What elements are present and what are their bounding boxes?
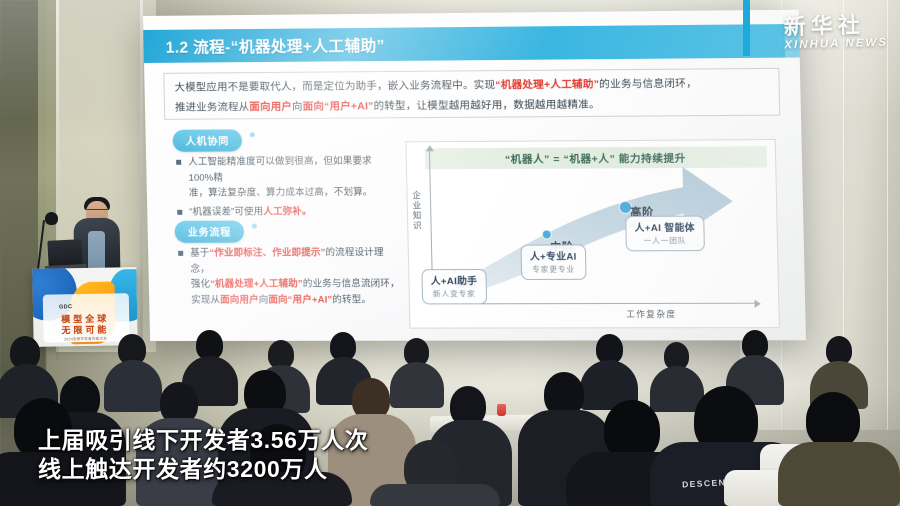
bullet-list-workflow: 基于“作业即标注、作业即提示”的流程设计理念， 强化“机器处理+人工辅助”的业务… <box>178 245 403 311</box>
audience-shoulders-foreground <box>370 484 500 506</box>
audience-shoulders-foreground <box>778 442 900 506</box>
bullet-square-icon <box>177 210 182 215</box>
pill-decor-dot <box>250 132 255 137</box>
bullet-line: 强化 <box>191 279 210 290</box>
audience-shoulders <box>104 360 162 412</box>
drink-cup <box>497 404 506 416</box>
section-pill-collaboration: 人机协同 <box>172 129 242 151</box>
bullet-highlight: 面向用户 <box>220 295 259 306</box>
bullet-text: 人工智能精准度可以做到很高，但如果要求100%精 准，算法复杂度、算力成本过高，… <box>188 153 397 201</box>
audience-head-foreground <box>806 392 860 448</box>
bullet-line: 的业务与信息流闭环， <box>303 278 400 289</box>
bullet-line: 人工智能精准度可以做到很高，但如果要求100%精 <box>188 156 372 184</box>
stage-card-subtitle: 新人变专家 <box>431 288 478 299</box>
bullet-item: “机器误差”可使用人工弥补。 <box>177 204 397 221</box>
bullet-square-icon <box>176 160 181 165</box>
slide-intro-box: 大模型应用不是要取代人，而是定位为助手，嵌入业务流程中。实现“机器处理+人工辅助… <box>163 68 780 120</box>
stage-card-intermediate: 人+专业AI 专家更专业 <box>520 244 586 280</box>
intro-highlight-4: “用户+AI” <box>324 101 374 112</box>
intro-text-b: 的业务与信息闭环， <box>599 79 697 91</box>
stage-card-subtitle: 一人一团队 <box>635 235 695 246</box>
podium-logo: GDC <box>59 304 72 310</box>
bullet-highlight: “作业即标注、作业即提示” <box>209 247 325 258</box>
subtitle-line-1: 上届吸引线下开发者3.56万人次 <box>38 426 368 455</box>
intro-line-2: 推进业务流程从面向用户向面向“用户+AI”的转型，让模型越用越好用，数据越用越精… <box>175 94 769 118</box>
bullet-highlight: “用户+AI” <box>288 294 333 305</box>
stage-card-basic: 人+AI助手 新人变专家 <box>421 269 487 304</box>
intro-text-d: 向 <box>292 101 303 112</box>
audience-head-foreground <box>604 400 660 460</box>
podium-slogan-line-2: 无限可能 <box>61 325 109 336</box>
stage-card-title: 人+专业AI <box>530 248 577 262</box>
bullet-list-collaboration: 人工智能精准度可以做到很高，但如果要求100%精 准，算法复杂度、算力成本过高，… <box>176 153 397 223</box>
bullet-square-icon <box>178 251 183 256</box>
y-axis-label: 企业知识 <box>411 191 424 231</box>
intro-highlight-2: 面向用户 <box>249 101 292 112</box>
bullet-item: 基于“作业即标注、作业即提示”的流程设计理念， 强化“机器处理+人工辅助”的业务… <box>178 245 403 308</box>
laptop <box>47 239 82 267</box>
bullet-line: 基于 <box>190 248 209 259</box>
watermark-accent-bar <box>743 0 750 56</box>
subtitle-block: 上届吸引线下开发者3.56万人次 线上触达开发者约3200万人 <box>38 426 368 484</box>
podium-subtext: 2024全球开发者先锋大会 <box>46 336 126 342</box>
audience-shoulders <box>390 362 444 408</box>
section-pill-workflow: 业务流程 <box>174 221 244 243</box>
slide-title-bar: 1.2 流程-“机器处理+人工辅助” <box>143 24 799 63</box>
watermark: 新华社 XINHUA NEWS <box>784 13 889 52</box>
stage-node-intermediate <box>543 230 551 238</box>
microphone-icon <box>45 212 58 225</box>
slide-title: 1.2 流程-“机器处理+人工辅助” <box>165 33 385 57</box>
bullet-line: 向 <box>259 294 269 305</box>
watermark-cn-text: 新华社 <box>784 13 888 39</box>
intro-text-c: 推进业务流程从 <box>175 102 250 114</box>
stage-card-title: 人+AI 智能体 <box>634 220 695 234</box>
podium-slogan-line-1: 模型全球 <box>61 314 109 325</box>
video-frame: 1.2 流程-“机器处理+人工辅助” 大模型应用不是要取代人，而是定位为助手，嵌… <box>0 0 900 506</box>
stage-card-title: 人+AI助手 <box>431 273 478 287</box>
subtitle-line-2: 线上触达开发者约3200万人 <box>38 455 368 484</box>
capability-growth-diagram: “机器人” = “机器+人” 能力持续提升 企业知识 工作复杂度 <box>405 139 779 329</box>
x-axis-label: 工作复杂度 <box>626 308 676 320</box>
intro-text-a: 大模型应用不是要取代人，而是定位为助手，嵌入业务流程中。实现 <box>174 80 495 94</box>
bullet-text: “机器误差”可使用人工弥补。 <box>189 204 312 220</box>
intro-text-e: 的转型，让模型越用越好用，数据越用越精准。 <box>373 99 600 112</box>
bullet-line: 的转型。 <box>332 294 371 305</box>
stage-card-subtitle: 专家更专业 <box>530 264 577 275</box>
bullet-text: 基于“作业即标注、作业即提示”的流程设计理念， 强化“机器处理+人工辅助”的业务… <box>190 245 403 308</box>
bullet-line: “机器误差”可使用 <box>189 206 263 217</box>
bullet-highlight: “机器处理+人工辅助” <box>210 279 303 290</box>
intro-highlight-3: 面向 <box>303 101 325 112</box>
bullet-item: 人工智能精准度可以做到很高，但如果要求100%精 准，算法复杂度、算力成本过高，… <box>176 153 397 201</box>
podium-banner: GDC 模型全球 无限可能 2024全球开发者先锋大会 <box>32 267 137 347</box>
bullet-line: 实现从 <box>191 295 220 306</box>
bullet-highlight: 面向 <box>268 294 288 305</box>
projection-screen: 1.2 流程-“机器处理+人工辅助” 大模型应用不是要取代人，而是定位为助手，嵌… <box>143 10 806 341</box>
podium-slogan: 模型全球 无限可能 <box>45 313 125 336</box>
bullet-line: 准，算法复杂度、算力成本过高，不划算。 <box>189 187 373 199</box>
stage-card-advanced: 人+AI 智能体 一人一团队 <box>625 216 704 252</box>
glasses-icon <box>87 209 107 214</box>
slide-canvas: 1.2 流程-“机器处理+人工辅助” 大模型应用不是要取代人，而是定位为助手，嵌… <box>143 10 806 341</box>
pill-decor-dot <box>252 224 257 229</box>
bullet-highlight: 人工弥补。 <box>263 206 312 217</box>
speaker-shirt <box>88 231 105 271</box>
intro-highlight-1: “机器处理+人工辅助” <box>495 79 599 91</box>
